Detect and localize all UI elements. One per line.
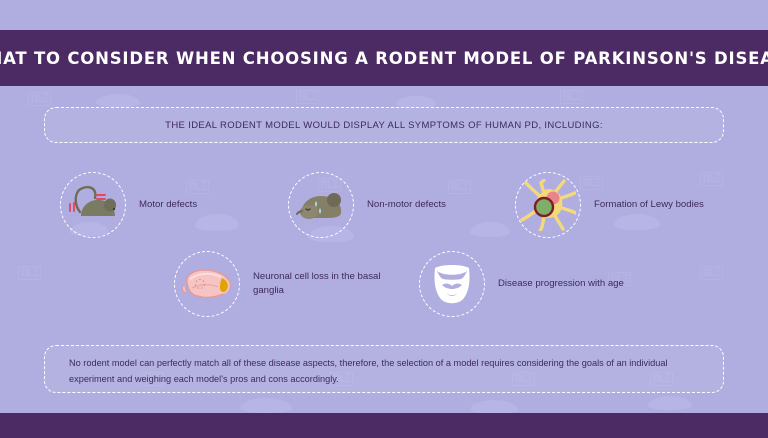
footer-band	[0, 413, 768, 438]
feature-item-neuronal-cell-loss: Neuronal cell loss in the basal ganglia	[174, 251, 381, 317]
feature-icon-frame	[419, 251, 485, 317]
watermark-logo: ΠLΞ	[448, 180, 471, 194]
intro-panel-text: THE IDEAL RODENT MODEL WOULD DISPLAY ALL…	[165, 120, 603, 131]
feature-label-motor-defects: Motor defects	[139, 198, 197, 212]
feature-label-disease-progression-age: Disease progression with age	[498, 277, 624, 291]
cloud-shape	[195, 214, 239, 231]
cloud-shape	[470, 222, 510, 237]
feature-icon-frame	[60, 172, 126, 238]
mouse-tremor-icon	[65, 182, 121, 228]
feature-label-non-motor-defects: Non-motor defects	[367, 198, 446, 212]
rodent-brain-icon	[178, 263, 236, 305]
feature-item-lewy-bodies: Formation of Lewy bodies	[515, 172, 704, 238]
feature-label-lewy-bodies: Formation of Lewy bodies	[594, 198, 704, 212]
feature-item-motor-defects: Motor defects	[60, 172, 197, 238]
feature-icon-frame	[515, 172, 581, 238]
conclusion-panel-text: No rodent model can perfectly match all …	[69, 355, 699, 387]
header-band: WHAT TO CONSIDER WHEN CHOOSING A RODENT …	[0, 30, 768, 86]
watermark-logo: ΠLΞ	[560, 90, 583, 104]
intro-panel: THE IDEAL RODENT MODEL WOULD DISPLAY ALL…	[44, 107, 724, 143]
watermark-logo: ΠLΞ	[296, 90, 319, 104]
conclusion-panel: No rodent model can perfectly match all …	[44, 345, 724, 393]
cloud-shape	[470, 400, 518, 414]
cloud-shape	[648, 396, 692, 410]
feature-icon-frame	[174, 251, 240, 317]
bearded-elder-face-icon	[428, 259, 476, 309]
page-title: WHAT TO CONSIDER WHEN CHOOSING A RODENT …	[0, 49, 768, 68]
watermark-logo: ΠLΞ	[700, 266, 723, 280]
feature-label-neuronal-cell-loss: Neuronal cell loss in the basal ganglia	[253, 270, 381, 298]
feature-icon-frame	[288, 172, 354, 238]
cloud-shape	[96, 94, 140, 107]
feature-item-disease-progression-age: Disease progression with age	[419, 251, 624, 317]
cloud-shape	[240, 398, 292, 413]
sleeping-mouse-icon	[294, 184, 348, 226]
feature-item-non-motor-defects: Non-motor defects	[288, 172, 446, 238]
infographic-root: ΠLΞ ΠLΞ ΠLΞ ΠLΞ ΠLΞ ΠLΞ ΠLΞ ΠLΞ ΠLΞ ΠLΞ …	[0, 0, 768, 438]
watermark-logo: ΠLΞ	[28, 92, 51, 106]
watermark-logo: ΠLΞ	[18, 266, 41, 280]
neuron-lewy-body-icon	[520, 179, 576, 231]
